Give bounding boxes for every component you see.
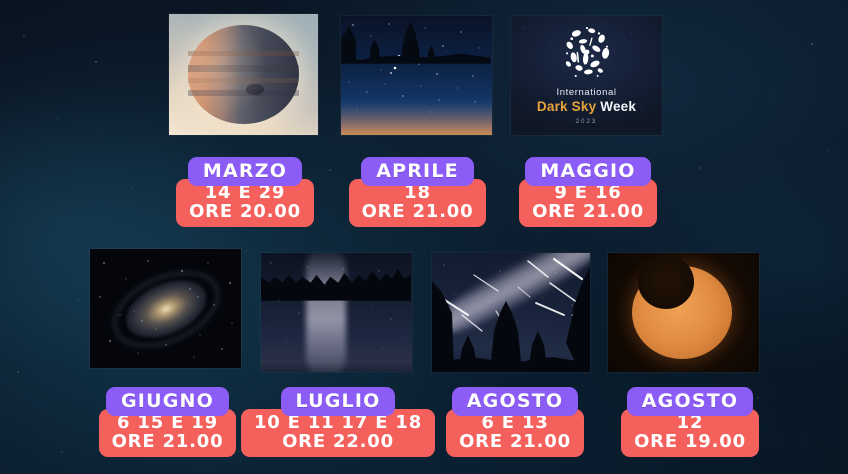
time-agosto-2: ORE 19.00 — [634, 432, 746, 451]
dsw-line-week: Week — [600, 99, 636, 114]
detail-luglio: 10 E 11 17 E 18 ORE 22.00 — [241, 409, 435, 457]
dsw-year: 2023 — [511, 119, 662, 127]
event-badge-giugno: GIUGNO 6 15 E 19 ORE 21.00 — [105, 387, 230, 457]
tree-silhouettes — [341, 16, 491, 64]
time-giugno: ORE 21.00 — [112, 432, 224, 451]
spiral-galaxy-photo — [90, 249, 241, 368]
month-label-marzo: MARZO — [188, 157, 302, 186]
starry-night-trees-photo — [341, 16, 492, 135]
month-label-agosto-2: AGOSTO — [627, 387, 753, 416]
event-badge-aprile: APRILE 18 ORE 21.00 — [360, 157, 475, 227]
detail-maggio: 9 E 16 ORE 21.00 — [519, 179, 657, 227]
month-label-maggio: MAGGIO — [525, 157, 650, 186]
detail-giugno: 6 15 E 19 ORE 21.00 — [99, 409, 237, 457]
month-label-aprile: APRILE — [361, 157, 474, 186]
conifer-silhouettes — [432, 253, 590, 372]
detail-aprile: 18 ORE 21.00 — [349, 179, 487, 227]
detail-agosto-1: 6 E 13 ORE 21.00 — [446, 409, 584, 457]
sun-disc — [632, 266, 732, 359]
moon-occlusion — [638, 255, 694, 309]
meteor-shower-photo — [432, 253, 590, 372]
month-label-agosto-1: AGOSTO — [452, 387, 578, 416]
month-label-luglio: LUGLIO — [281, 387, 396, 416]
dark-sky-week-logo-icon — [553, 18, 619, 84]
event-badge-marzo: MARZO 14 E 29 ORE 20.00 — [181, 157, 309, 227]
horizon-light-glow — [341, 104, 492, 135]
astronomy-events-poster: International Dark Sky Week 2023 MARZO 1… — [0, 0, 848, 474]
dsw-line-international: International — [511, 87, 662, 99]
event-badge-agosto-2: AGOSTO 12 ORE 19.00 — [627, 387, 753, 457]
time-maggio: ORE 21.00 — [532, 202, 644, 221]
partial-solar-eclipse-photo — [608, 253, 759, 372]
dsw-line-dark-sky: Dark Sky — [537, 99, 596, 114]
forest-silhouette — [261, 253, 411, 301]
detail-agosto-2: 12 ORE 19.00 — [621, 409, 759, 457]
event-badge-maggio: MAGGIO 9 E 16 ORE 21.00 — [528, 157, 648, 227]
month-label-giugno: GIUGNO — [106, 387, 229, 416]
milky-way-forest-photo — [261, 253, 412, 372]
time-aprile: ORE 21.00 — [362, 202, 474, 221]
event-badge-luglio: LUGLIO 10 E 11 17 E 18 ORE 22.00 — [276, 387, 400, 457]
time-marzo: ORE 20.00 — [189, 202, 301, 221]
time-luglio: ORE 22.00 — [254, 432, 422, 451]
dark-sky-week-caption: International Dark Sky Week 2023 — [511, 87, 662, 126]
planet-jupiter-photo — [169, 14, 318, 135]
event-badge-agosto-1: AGOSTO 6 E 13 ORE 21.00 — [452, 387, 578, 457]
dark-sky-week-poster-photo: International Dark Sky Week 2023 — [511, 16, 662, 135]
detail-marzo: 14 E 29 ORE 20.00 — [176, 179, 314, 227]
time-agosto-1: ORE 21.00 — [459, 432, 571, 451]
